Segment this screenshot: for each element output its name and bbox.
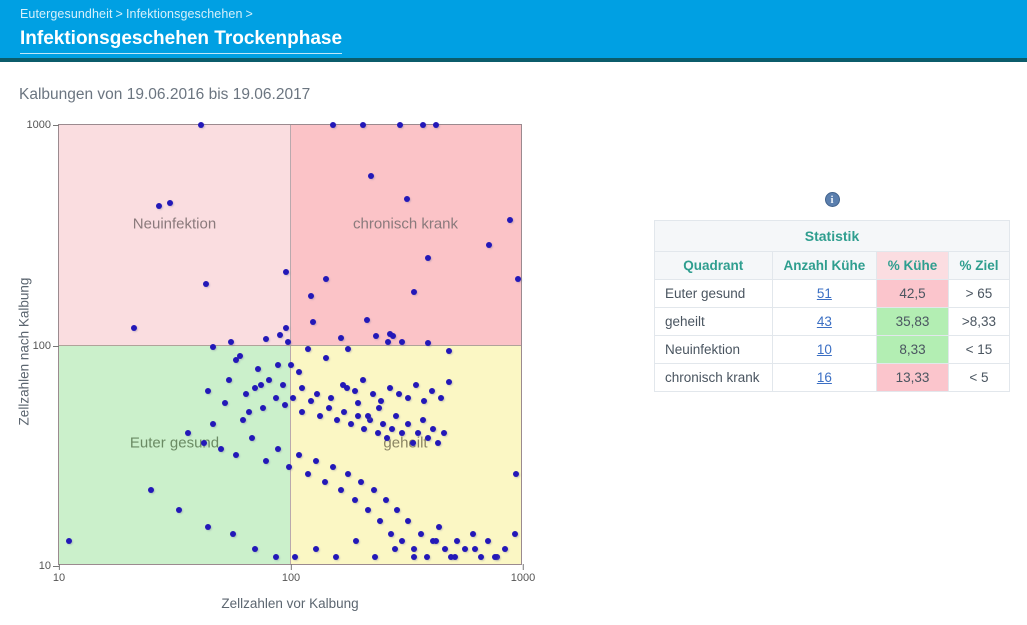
- scatter-point[interactable]: [305, 471, 311, 477]
- scatter-point[interactable]: [411, 554, 417, 560]
- scatter-point[interactable]: [345, 471, 351, 477]
- scatter-point[interactable]: [252, 385, 258, 391]
- scatter-point[interactable]: [255, 366, 261, 372]
- scatter-point[interactable]: [478, 554, 484, 560]
- table-header-row: Quadrant Anzahl Kühe % Kühe % Ziel: [655, 252, 1010, 280]
- column-header-pct-ziel: % Ziel: [948, 252, 1009, 280]
- scatter-point[interactable]: [470, 531, 476, 537]
- scatter-point[interactable]: [390, 333, 396, 339]
- cell-anzahl-kuehe: 43: [772, 308, 877, 336]
- table-row: chronisch krank1613,33< 5: [655, 364, 1010, 392]
- scatter-point[interactable]: [285, 339, 291, 345]
- scatter-point[interactable]: [355, 400, 361, 406]
- scatter-point[interactable]: [502, 546, 508, 552]
- cell-pct-ziel: > 65: [948, 280, 1009, 308]
- scatter-point[interactable]: [203, 281, 209, 287]
- scatter-point[interactable]: [205, 388, 211, 394]
- scatter-point[interactable]: [372, 554, 378, 560]
- scatter-point[interactable]: [364, 317, 370, 323]
- quadrant-divider-horizontal: [59, 345, 521, 346]
- scatter-point[interactable]: [405, 518, 411, 524]
- statistics-table: Statistik Quadrant Anzahl Kühe % Kühe % …: [654, 220, 1010, 392]
- scatter-point[interactable]: [365, 507, 371, 513]
- count-link[interactable]: 10: [817, 342, 832, 357]
- scatter-point[interactable]: [263, 458, 269, 464]
- scatter-point[interactable]: [296, 452, 302, 458]
- scatter-point[interactable]: [218, 446, 224, 452]
- scatter-point[interactable]: [352, 497, 358, 503]
- scatter-point[interactable]: [290, 395, 296, 401]
- scatter-point[interactable]: [420, 417, 426, 423]
- scatter-point[interactable]: [420, 122, 426, 128]
- scatter-point[interactable]: [305, 346, 311, 352]
- scatter-point[interactable]: [323, 276, 329, 282]
- scatter-point[interactable]: [201, 440, 207, 446]
- scatter-point[interactable]: [454, 538, 460, 544]
- scatter-point[interactable]: [323, 355, 329, 361]
- scatter-point[interactable]: [275, 362, 281, 368]
- scatter-point[interactable]: [283, 269, 289, 275]
- scatter-point[interactable]: [345, 346, 351, 352]
- info-icon[interactable]: i: [825, 192, 840, 207]
- breadcrumb-item-infektionsgeschehen[interactable]: Infektionsgeschehen: [126, 7, 243, 21]
- table-caption-row: Statistik: [655, 221, 1010, 252]
- scatter-point[interactable]: [446, 379, 452, 385]
- scatter-point[interactable]: [230, 531, 236, 537]
- scatter-point[interactable]: [228, 339, 234, 345]
- scatter-point[interactable]: [397, 122, 403, 128]
- scatter-point[interactable]: [513, 471, 519, 477]
- scatter-point[interactable]: [492, 554, 498, 560]
- scatter-point[interactable]: [430, 426, 436, 432]
- scatter-point[interactable]: [273, 395, 279, 401]
- count-link[interactable]: 16: [817, 370, 832, 385]
- scatter-point[interactable]: [392, 546, 398, 552]
- scatter-point[interactable]: [371, 487, 377, 493]
- scatter-point[interactable]: [438, 395, 444, 401]
- scatter-point[interactable]: [452, 554, 458, 560]
- scatter-point[interactable]: [210, 344, 216, 350]
- scatter-point[interactable]: [288, 362, 294, 368]
- scatter-point[interactable]: [433, 538, 439, 544]
- y-axis-tick-label: 1000: [27, 119, 59, 131]
- scatter-point[interactable]: [185, 430, 191, 436]
- scatter-point[interactable]: [353, 538, 359, 544]
- scatter-point[interactable]: [352, 388, 358, 394]
- column-header-pct-kuehe: % Kühe: [877, 252, 949, 280]
- column-header-quadrant: Quadrant: [655, 252, 773, 280]
- info-icon-container: i: [654, 190, 1010, 216]
- scatter-point[interactable]: [399, 430, 405, 436]
- scatter-point[interactable]: [167, 200, 173, 206]
- scatter-point[interactable]: [198, 122, 204, 128]
- scatter-point[interactable]: [358, 479, 364, 485]
- scatter-point[interactable]: [338, 335, 344, 341]
- table-body: Euter gesund5142,5> 65geheilt4335,83>8,3…: [655, 280, 1010, 392]
- scatter-point[interactable]: [435, 440, 441, 446]
- scatter-point[interactable]: [266, 377, 272, 383]
- scatter-point[interactable]: [377, 518, 383, 524]
- scatter-point[interactable]: [258, 382, 264, 388]
- scatter-point[interactable]: [410, 440, 416, 446]
- breadcrumb-item-eutergesundheit[interactable]: Eutergesundheit: [20, 7, 113, 21]
- scatter-point[interactable]: [280, 382, 286, 388]
- scatter-point[interactable]: [341, 409, 347, 415]
- scatter-point[interactable]: [368, 173, 374, 179]
- count-link[interactable]: 51: [817, 286, 832, 301]
- scatter-point[interactable]: [156, 203, 162, 209]
- scatter-point[interactable]: [380, 421, 386, 427]
- scatter-point[interactable]: [365, 413, 371, 419]
- scatter-point[interactable]: [252, 546, 258, 552]
- x-axis-tick-label: 100: [282, 564, 300, 584]
- scatter-point[interactable]: [286, 464, 292, 470]
- page-root: Eutergesundheit>Infektionsgeschehen> Inf…: [0, 0, 1027, 625]
- scatter-point[interactable]: [299, 409, 305, 415]
- scatter-point[interactable]: [472, 546, 478, 552]
- cell-anzahl-kuehe: 16: [772, 364, 877, 392]
- scatter-point[interactable]: [205, 524, 211, 530]
- y-axis-tick-label: 100: [33, 340, 59, 352]
- scatter-point[interactable]: [405, 395, 411, 401]
- cell-pct-kuehe: 35,83: [877, 308, 949, 336]
- scatter-point[interactable]: [385, 339, 391, 345]
- x-axis-tick-label: 10: [53, 564, 65, 584]
- scatter-point[interactable]: [328, 395, 334, 401]
- table-row: Euter gesund5142,5> 65: [655, 280, 1010, 308]
- scatter-point[interactable]: [233, 357, 239, 363]
- scatter-point[interactable]: [462, 546, 468, 552]
- scatter-point[interactable]: [411, 289, 417, 295]
- cell-pct-kuehe: 13,33: [877, 364, 949, 392]
- scatter-point[interactable]: [148, 487, 154, 493]
- scatter-point[interactable]: [355, 413, 361, 419]
- scatter-point[interactable]: [322, 479, 328, 485]
- cell-pct-kuehe: 42,5: [877, 280, 949, 308]
- scatter-point[interactable]: [310, 319, 316, 325]
- scatter-point[interactable]: [389, 426, 395, 432]
- scatter-point[interactable]: [296, 369, 302, 375]
- quadrant-neuinfektion: [59, 125, 290, 345]
- scatter-point[interactable]: [326, 405, 332, 411]
- scatter-point[interactable]: [384, 435, 390, 441]
- scatter-point[interactable]: [421, 398, 427, 404]
- scatter-point[interactable]: [411, 546, 417, 552]
- scatter-point[interactable]: [249, 435, 255, 441]
- scatter-point[interactable]: [394, 507, 400, 513]
- scatter-point[interactable]: [210, 421, 216, 427]
- column-header-anzahl-kuehe: Anzahl Kühe: [772, 252, 877, 280]
- scatter-point[interactable]: [486, 242, 492, 248]
- scatter-point[interactable]: [131, 325, 137, 331]
- scatter-point[interactable]: [429, 388, 435, 394]
- scatter-point[interactable]: [512, 531, 518, 537]
- table-row: geheilt4335,83>8,33: [655, 308, 1010, 336]
- scatter-point[interactable]: [273, 554, 279, 560]
- quadrant-geheilt: [290, 345, 521, 565]
- scatter-point[interactable]: [344, 385, 350, 391]
- scatter-point[interactable]: [226, 377, 232, 383]
- scatter-point[interactable]: [330, 464, 336, 470]
- scatter-point[interactable]: [240, 417, 246, 423]
- cell-anzahl-kuehe: 10: [772, 336, 877, 364]
- scatter-point[interactable]: [375, 430, 381, 436]
- scatter-point[interactable]: [507, 217, 513, 223]
- x-axis-tick-label: 1000: [511, 564, 535, 584]
- breadcrumb-separator: >: [113, 7, 126, 21]
- cell-quadrant: chronisch krank: [655, 364, 773, 392]
- scatter-point[interactable]: [405, 421, 411, 427]
- scatter-plot-area: Neuinfektion chronisch krank Euter gesun…: [58, 124, 522, 565]
- scatter-point[interactable]: [415, 430, 421, 436]
- scatter-point[interactable]: [373, 333, 379, 339]
- scatter-point[interactable]: [378, 398, 384, 404]
- scatter-point[interactable]: [282, 402, 288, 408]
- scatter-point[interactable]: [233, 452, 239, 458]
- scatter-point[interactable]: [313, 458, 319, 464]
- cell-pct-ziel: < 15: [948, 336, 1009, 364]
- scatter-point[interactable]: [308, 293, 314, 299]
- statistics-panel: i Statistik Quadrant Anzahl Kühe % Kühe …: [654, 190, 1010, 392]
- scatter-point[interactable]: [283, 325, 289, 331]
- table-row: Neuinfektion108,33< 15: [655, 336, 1010, 364]
- scatter-point[interactable]: [317, 413, 323, 419]
- scatter-point[interactable]: [330, 122, 336, 128]
- scatter-point[interactable]: [260, 405, 266, 411]
- scatter-point[interactable]: [376, 405, 382, 411]
- scatter-point[interactable]: [388, 531, 394, 537]
- scatter-point[interactable]: [404, 196, 410, 202]
- scatter-point[interactable]: [222, 400, 228, 406]
- chart-container: Zellzahlen nach Kalbung Neuinfektion chr…: [0, 110, 560, 620]
- cell-pct-ziel: < 5: [948, 364, 1009, 392]
- scatter-point[interactable]: [277, 332, 283, 338]
- scatter-point[interactable]: [360, 122, 366, 128]
- scatter-point[interactable]: [383, 497, 389, 503]
- quadrant-euter-gesund: [59, 345, 290, 565]
- scatter-point[interactable]: [314, 391, 320, 397]
- scatter-point[interactable]: [446, 348, 452, 354]
- scatter-point[interactable]: [425, 255, 431, 261]
- scatter-point[interactable]: [338, 487, 344, 493]
- cell-pct-kuehe: 8,33: [877, 336, 949, 364]
- cell-anzahl-kuehe: 51: [772, 280, 877, 308]
- page-title: Infektionsgeschehen Trockenphase: [20, 27, 342, 54]
- scatter-point[interactable]: [399, 339, 405, 345]
- scatter-point[interactable]: [387, 385, 393, 391]
- scatter-point[interactable]: [246, 409, 252, 415]
- cell-quadrant: Neuinfektion: [655, 336, 773, 364]
- scatter-point[interactable]: [299, 385, 305, 391]
- scatter-point[interactable]: [176, 507, 182, 513]
- scatter-point[interactable]: [243, 391, 249, 397]
- scatter-point[interactable]: [433, 122, 439, 128]
- scatter-point[interactable]: [275, 446, 281, 452]
- scatter-point[interactable]: [436, 524, 442, 530]
- scatter-point[interactable]: [66, 538, 72, 544]
- quadrant-chronisch-krank: [290, 125, 521, 345]
- scatter-point[interactable]: [418, 531, 424, 537]
- scatter-point[interactable]: [425, 340, 431, 346]
- scatter-point[interactable]: [292, 554, 298, 560]
- count-link[interactable]: 43: [817, 314, 832, 329]
- scatter-point[interactable]: [360, 377, 366, 383]
- cell-quadrant: geheilt: [655, 308, 773, 336]
- scatter-point[interactable]: [425, 435, 431, 441]
- scatter-point[interactable]: [361, 426, 367, 432]
- scatter-point[interactable]: [413, 382, 419, 388]
- scatter-point[interactable]: [308, 398, 314, 404]
- scatter-point[interactable]: [424, 554, 430, 560]
- cell-pct-ziel: >8,33: [948, 308, 1009, 336]
- scatter-point[interactable]: [333, 554, 339, 560]
- scatter-point[interactable]: [396, 391, 402, 397]
- page-header: Eutergesundheit>Infektionsgeschehen> Inf…: [0, 0, 1027, 62]
- scatter-point[interactable]: [441, 430, 447, 436]
- cell-quadrant: Euter gesund: [655, 280, 773, 308]
- scatter-point[interactable]: [515, 276, 521, 282]
- scatter-point[interactable]: [263, 336, 269, 342]
- scatter-point[interactable]: [485, 538, 491, 544]
- scatter-point[interactable]: [313, 546, 319, 552]
- x-axis-title: Zellzahlen vor Kalbung: [58, 596, 522, 611]
- chart-title: Kalbungen von 19.06.2016 bis 19.06.2017: [19, 86, 310, 104]
- scatter-point[interactable]: [348, 421, 354, 427]
- scatter-point[interactable]: [334, 417, 340, 423]
- breadcrumb-separator: >: [243, 7, 256, 21]
- scatter-point[interactable]: [370, 391, 376, 397]
- breadcrumb: Eutergesundheit>Infektionsgeschehen>: [20, 6, 1027, 22]
- scatter-point[interactable]: [399, 538, 405, 544]
- table-caption: Statistik: [655, 221, 1010, 252]
- scatter-point[interactable]: [393, 413, 399, 419]
- y-axis-title: Zellzahlen nach Kalbung: [17, 242, 32, 462]
- scatter-point[interactable]: [442, 546, 448, 552]
